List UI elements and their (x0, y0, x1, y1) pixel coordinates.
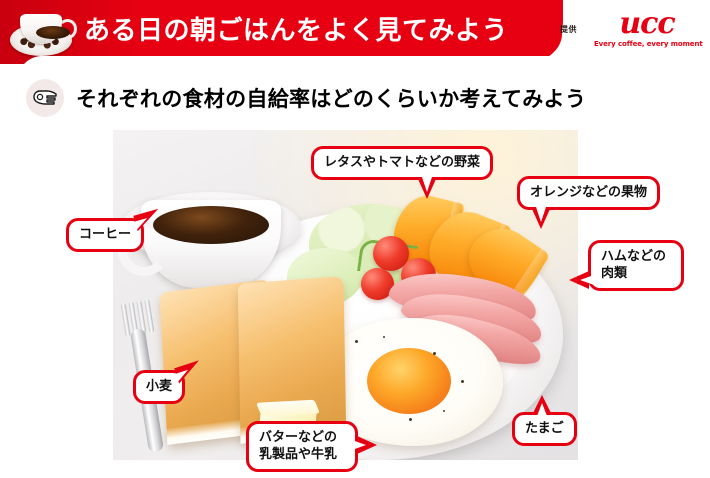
pepper-speck (443, 410, 445, 412)
pepper-speck (409, 418, 412, 421)
page-title: ある日の朝ごはんをよく見てみよう (84, 13, 508, 49)
coffee-cup-icon (8, 4, 74, 60)
callout-dairy[interactable]: バターなどの 乳製品や牛乳 (246, 421, 358, 472)
slide-canvas: ある日の朝ごはんをよく見てみよう 提供 ucc Every coffee, ev… (0, 0, 710, 478)
photo-coffee-liquid (153, 206, 269, 244)
egg-yolk (367, 348, 451, 414)
callout-meat[interactable]: ハムなどの 肉類 (588, 240, 684, 291)
ucc-wordmark: ucc (594, 8, 700, 39)
callout-egg-label: たまご (525, 421, 564, 436)
callout-meat-label-1: ハムなどの (601, 248, 671, 265)
callout-coffee-label: コーヒー (79, 227, 131, 242)
callout-wheat[interactable]: 小麦 (133, 370, 185, 404)
callout-dairy-label-2: 乳製品や牛乳 (259, 446, 345, 463)
butter-top-face (256, 400, 320, 417)
ucc-tagline: Every coffee, every moment (594, 39, 700, 49)
sponsor-logo: 提供 ucc Every coffee, every moment (552, 6, 702, 56)
callout-dairy-label-1: バターなどの (259, 429, 345, 446)
callout-meat-label-2: 肉類 (601, 265, 671, 282)
callout-fruit-label: オレンジなどの果物 (530, 185, 647, 200)
callout-tail-fill (537, 403, 547, 416)
pepper-speck (355, 340, 358, 343)
ucc-logo: ucc Every coffee, every moment (594, 8, 700, 49)
pepper-speck (461, 380, 464, 383)
coffee-surface-shape (36, 26, 70, 39)
callout-vegetables-label: レタスやトマトなどの野菜 (324, 155, 480, 170)
callout-wheat-label: 小麦 (146, 379, 172, 394)
callout-egg[interactable]: たまご (512, 412, 577, 446)
callout-tail-fill (352, 440, 366, 450)
pepper-speck (383, 336, 385, 338)
sponsor-label: 提供 (560, 24, 577, 35)
pointing-hand-glyph (31, 86, 59, 110)
pepper-speck (433, 352, 436, 355)
callout-fruit[interactable]: オレンジなどの果物 (517, 176, 660, 210)
subtitle-row: それぞれの食材の自給率はどのくらいか考えてみよう (26, 78, 586, 118)
callout-tail-fill (536, 207, 546, 222)
header-banner: ある日の朝ごはんをよく見てみよう 提供 ucc Every coffee, ev… (0, 0, 710, 64)
callout-vegetables[interactable]: レタスやトマトなどの野菜 (311, 146, 493, 180)
subtitle-text: それぞれの食材の自給率はどのくらいか考えてみよう (76, 83, 586, 113)
callout-tail-fill (580, 275, 594, 285)
callout-coffee[interactable]: コーヒー (66, 218, 144, 252)
pointing-hand-icon (26, 79, 64, 117)
callout-tail-fill (422, 177, 432, 192)
